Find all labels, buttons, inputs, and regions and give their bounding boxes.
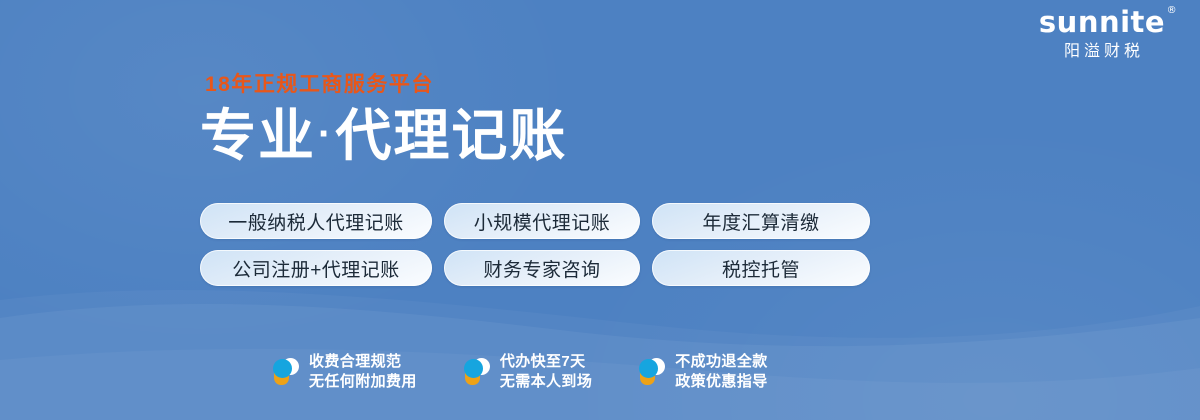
brand-wordmark-text: sunnite [1039,5,1165,39]
hero-tagline: 18年正规工商服务平台 [205,74,567,95]
hero-headline-part2: 代理记账 [335,104,567,167]
service-pill[interactable]: 公司注册+代理记账 [200,250,432,286]
feature-line-secondary: 无任何附加费用 [309,372,417,392]
service-pill[interactable]: 财务专家咨询 [444,250,640,286]
service-pill[interactable]: 小规模代理记账 [444,203,640,239]
feature-item: 代办快至7天 无需本人到场 [463,352,592,393]
feature-strip: 收费合理规范 无任何附加费用 代办快至7天 无需本人到场 不成功退全款 [272,352,768,393]
feature-line-primary: 不成功退全款 [675,352,767,372]
hero-text-block: 18年正规工商服务平台 专业·代理记账 [200,74,567,166]
registered-trademark-icon: ® [1167,6,1178,16]
feature-item: 收费合理规范 无任何附加费用 [272,352,417,393]
feature-line-secondary: 政策优惠指导 [675,372,767,392]
promo-banner: sunnite ® 阳溢财税 18年正规工商服务平台 专业·代理记账 一般纳税人… [0,0,1200,420]
hero-headline: 专业·代理记账 [200,107,567,166]
badge-blue-circle [273,359,292,378]
circles-badge-icon [272,357,300,387]
service-pill[interactable]: 一般纳税人代理记账 [200,203,432,239]
hero-headline-separator: · [316,112,335,156]
service-pill[interactable]: 年度汇算清缴 [652,203,870,239]
circles-badge-icon [463,357,491,387]
feature-text: 不成功退全款 政策优惠指导 [675,352,767,393]
background-glow-top-left [0,0,580,350]
feature-text: 代办快至7天 无需本人到场 [500,352,592,393]
circles-badge-icon [638,357,666,387]
service-pill-grid: 一般纳税人代理记账 小规模代理记账 年度汇算清缴 公司注册+代理记账 财务专家咨… [200,203,870,286]
brand-chinese-name: 阳溢财税 [1018,44,1186,60]
feature-item: 不成功退全款 政策优惠指导 [638,352,767,393]
feature-line-primary: 代办快至7天 [500,352,592,372]
service-pill[interactable]: 税控托管 [652,250,870,286]
badge-blue-circle [639,359,658,378]
badge-blue-circle [464,359,483,378]
feature-line-secondary: 无需本人到场 [500,372,592,392]
hero-headline-part1: 专业 [200,104,316,167]
brand-wordmark: sunnite ® [1039,8,1165,37]
feature-line-primary: 收费合理规范 [309,352,417,372]
feature-text: 收费合理规范 无任何附加费用 [309,352,417,393]
brand-logo[interactable]: sunnite ® 阳溢财税 [1018,8,1186,60]
